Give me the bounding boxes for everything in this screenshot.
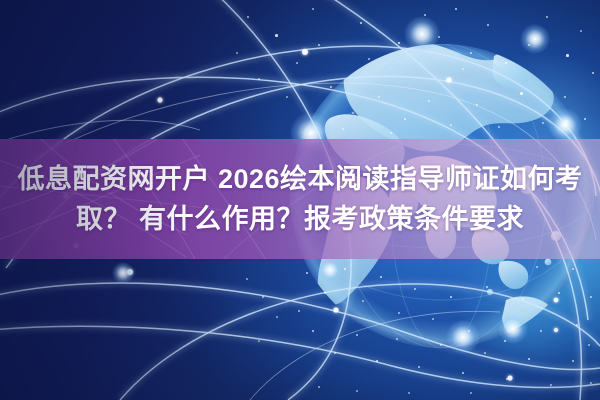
promo-banner: 低息配资网开户 2026绘本阅读指导师证如何考 取？ 有什么作用？报考政策条件要… bbox=[0, 0, 600, 400]
background-vignette bbox=[0, 0, 600, 400]
